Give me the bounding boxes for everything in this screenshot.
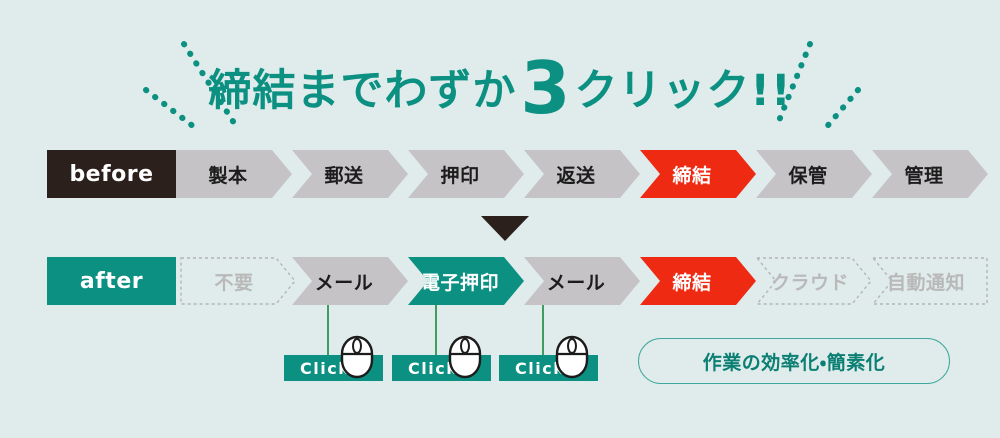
click-badge-3[interactable]: Click! [499, 355, 598, 381]
before-step-label: 締結 [672, 161, 711, 188]
connector-line-3 [542, 305, 544, 361]
down-arrow-icon [481, 216, 529, 241]
after-step-label: メール [315, 268, 374, 295]
before-step-seihon[interactable]: 製本 [176, 150, 292, 198]
after-step-cloud[interactable]: クラウド [756, 257, 872, 305]
before-step-yuso[interactable]: 郵送 [292, 150, 408, 198]
headline-number: 3 [516, 46, 574, 130]
connector-line-1 [327, 305, 329, 361]
mouse-icon [338, 333, 376, 381]
after-step-mail-2[interactable]: メール [524, 257, 640, 305]
after-step-label: メール [547, 268, 606, 295]
after-step-label: 電子押印 [421, 268, 499, 295]
before-step-label: 郵送 [324, 161, 363, 188]
after-endcap: after [47, 257, 176, 305]
click-badge-2[interactable]: Click! [392, 355, 491, 381]
mouse-icon [553, 333, 591, 381]
click-badge-1[interactable]: Click! [284, 355, 383, 381]
headline-tail: クリック!! [574, 66, 791, 116]
after-step-teiketsu[interactable]: 締結 [640, 257, 756, 305]
after-step-label: 締結 [672, 268, 711, 295]
after-step-label: 自動通知 [887, 268, 965, 295]
headline-lead: 締結までわずか [208, 66, 516, 116]
before-endcap-label: before [69, 162, 153, 187]
after-step-denshi-oin[interactable]: 電子押印 [408, 257, 524, 305]
before-step-label: 返送 [556, 161, 595, 188]
after-step-auto-notify[interactable]: 自動通知 [872, 257, 988, 305]
after-step-fuyo[interactable]: 不要 [180, 257, 296, 305]
before-step-teiketsu[interactable]: 締結 [640, 150, 756, 198]
before-step-hokan[interactable]: 保管 [756, 150, 872, 198]
before-step-label: 製本 [208, 161, 247, 188]
connector-line-2 [435, 305, 437, 361]
mouse-icon [446, 333, 484, 381]
before-step-henso[interactable]: 返送 [524, 150, 640, 198]
before-step-label: 押印 [440, 161, 479, 188]
after-step-label: クラウド [771, 268, 849, 295]
page-title: 締結までわずか3クリック!! [0, 44, 1000, 116]
after-step-label: 不要 [214, 268, 253, 295]
before-step-label: 管理 [904, 161, 943, 188]
before-step-label: 保管 [788, 161, 827, 188]
benefit-pill: 作業の効率化・簡素化 [638, 338, 950, 384]
after-endcap-label: after [80, 269, 143, 294]
after-step-mail-1[interactable]: メール [292, 257, 408, 305]
before-endcap: before [47, 150, 176, 198]
before-step-oin[interactable]: 押印 [408, 150, 524, 198]
before-step-kanri[interactable]: 管理 [872, 150, 988, 198]
infographic-canvas: 締結までわずか3クリック!! before 製本 郵送 押印 返送 締結 保管 [0, 0, 1000, 438]
benefit-label: 作業の効率化・簡素化 [703, 348, 885, 375]
